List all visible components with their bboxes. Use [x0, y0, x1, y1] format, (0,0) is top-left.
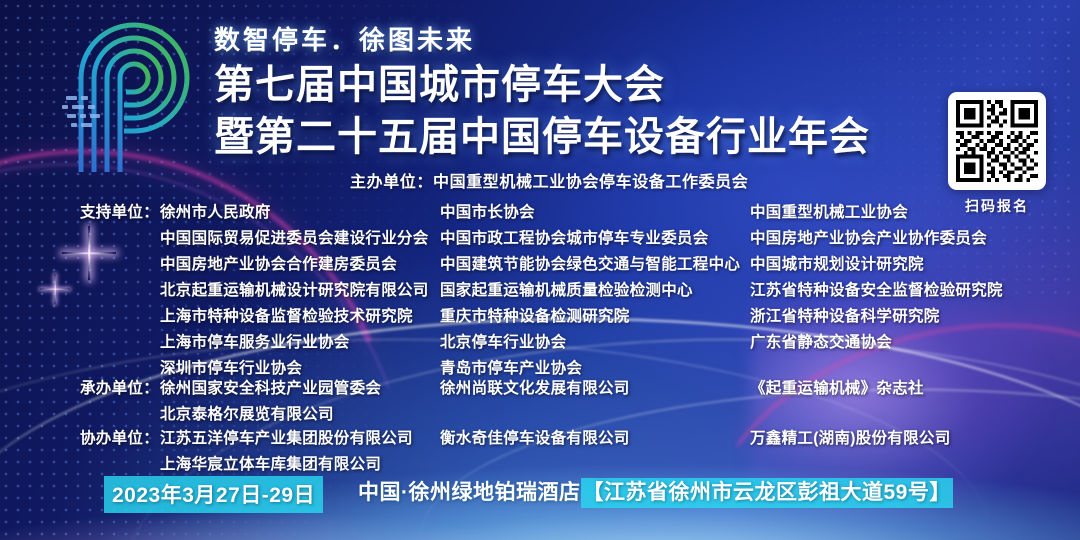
- poster-title-line2: 暨第二十五届中国停车设备行业年会: [214, 104, 870, 162]
- event-venue: 中国·徐州绿地铂瑞酒店【江苏省徐州市云龙区彭祖大道59号】: [358, 476, 953, 506]
- support-row: 中国房地产业协会合作建房委员会中国建筑节能协会绿色交通与智能工程中心中国城市规划…: [0, 252, 1080, 278]
- poster-title-line1: 第七届中国城市停车大会: [214, 52, 665, 110]
- event-date: 2023年3月27日-29日: [104, 476, 323, 513]
- support-col2-item: 中国市政工程协会城市停车专业委员会: [440, 226, 709, 252]
- support-col1-item: 中国国际贸易促进委员会建设行业分会: [160, 226, 429, 252]
- support-col2-item: 中国市长协会: [440, 200, 535, 226]
- support-col3-item: 江苏省特种设备安全监督检验研究院: [750, 278, 1003, 304]
- support-col3-item: 中国城市规划设计研究院: [750, 252, 924, 278]
- support-col1-item: 上海市特种设备监督检验技术研究院: [160, 304, 413, 330]
- support-units-label: 支持单位：: [80, 200, 159, 226]
- organizer-line: 主办单位：中国重型机械工业协会停车设备工作委员会: [350, 168, 748, 192]
- parking-p-logo: [52, 12, 227, 187]
- support-row: 中国国际贸易促进委员会建设行业分会中国市政工程协会城市停车专业委员会中国房地产业…: [0, 226, 1080, 252]
- venue-address: 【江苏省徐州市云龙区彭祖大道59号】: [581, 478, 953, 508]
- support-col1-item: 中国房地产业协会合作建房委员会: [160, 252, 397, 278]
- support-col2-item: 中国建筑节能协会绿色交通与智能工程中心: [440, 252, 740, 278]
- conference-poster: 数智停车．徐图未来 第七届中国城市停车大会 暨第二十五届中国停车设备行业年会 主…: [0, 0, 1080, 540]
- qr-caption: 扫码报名: [948, 196, 1046, 216]
- support-row: 支持单位：徐州市人民政府中国市长协会中国重型机械工业协会: [0, 200, 1080, 226]
- venue-name: 中国·徐州绿地铂瑞酒店: [358, 481, 581, 504]
- support-col3-item: 浙江省特种设备科学研究院: [750, 304, 940, 330]
- support-col2-item: 国家起重运输机械质量检验检测中心: [440, 278, 693, 304]
- support-col1-item: 北京起重运输机械设计研究院有限公司: [160, 278, 429, 304]
- support-col3-item: 中国房地产业协会产业协作委员会: [750, 226, 987, 252]
- registration-qr-code[interactable]: [948, 92, 1046, 190]
- support-col3-item: 中国重型机械工业协会: [750, 200, 908, 226]
- support-row: 北京起重运输机械设计研究院有限公司国家起重运输机械质量检验检测中心江苏省特种设备…: [0, 278, 1080, 304]
- support-col1-item: 徐州市人民政府: [160, 200, 271, 226]
